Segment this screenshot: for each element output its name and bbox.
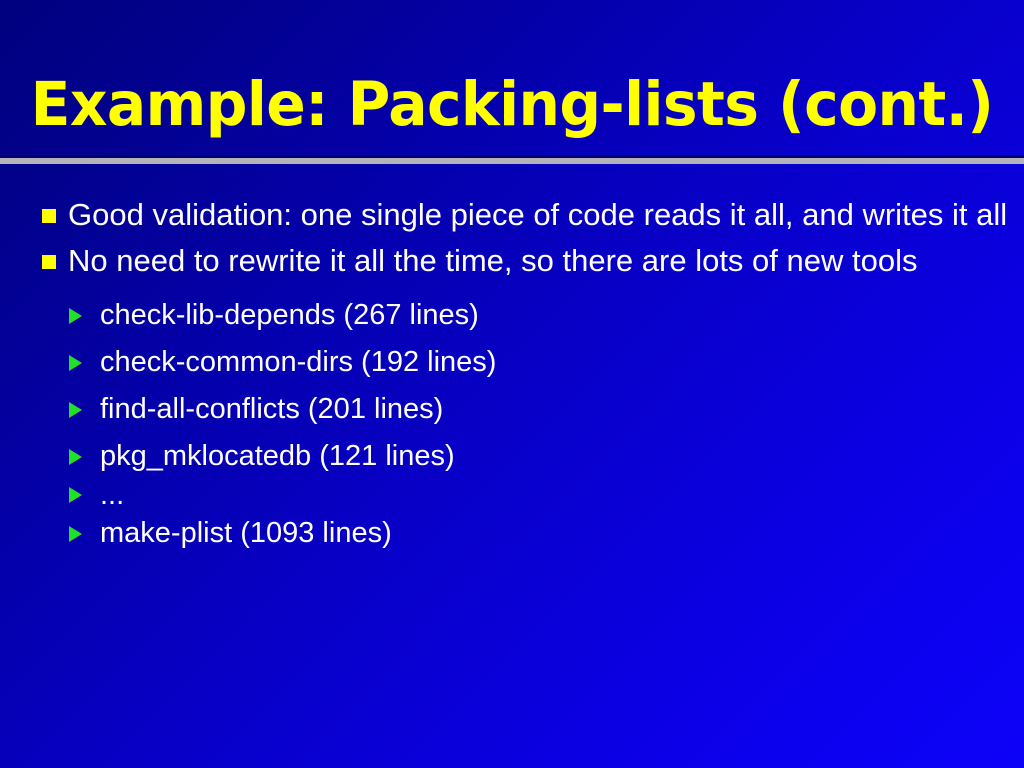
triangle-bullet-icon <box>69 402 82 418</box>
list-item: Good validation: one single piece of cod… <box>0 192 1024 238</box>
page-title: Example: Packing-lists (cont.) <box>23 68 1001 142</box>
bullet-text: Good validation: one single piece of cod… <box>68 197 1007 232</box>
sub-bullet-text: find-all-conflicts (201 lines) <box>100 386 443 433</box>
triangle-bullet-icon <box>69 487 82 503</box>
sub-bullet-text: check-lib-depends (267 lines) <box>100 292 479 339</box>
sub-bullet-text: pkg_mklocatedb (121 lines) <box>100 433 455 480</box>
sub-bullet-text: ... <box>100 480 124 510</box>
sub-bullet-text: make-plist (1093 lines) <box>100 510 392 557</box>
triangle-bullet-icon <box>69 449 82 465</box>
square-bullet-icon <box>42 255 56 269</box>
list-item: ... <box>0 480 1024 510</box>
list-item: make-plist (1093 lines) <box>0 510 1024 557</box>
list-item: pkg_mklocatedb (121 lines) <box>0 433 1024 480</box>
list-item: check-common-dirs (192 lines) <box>0 339 1024 386</box>
presentation-slide: Example: Packing-lists (cont.) Good vali… <box>0 0 1024 768</box>
title-divider <box>0 155 1024 164</box>
list-item: find-all-conflicts (201 lines) <box>0 386 1024 433</box>
sub-bullet-list: check-lib-depends (267 lines) check-comm… <box>0 292 1024 557</box>
list-item: check-lib-depends (267 lines) <box>0 292 1024 339</box>
triangle-bullet-icon <box>69 308 82 324</box>
sub-bullet-text: check-common-dirs (192 lines) <box>100 339 496 386</box>
slide-body: Good validation: one single piece of cod… <box>0 192 1024 557</box>
bullet-text: No need to rewrite it all the time, so t… <box>68 243 917 278</box>
square-bullet-icon <box>42 209 56 223</box>
list-item: No need to rewrite it all the time, so t… <box>0 238 1024 284</box>
triangle-bullet-icon <box>69 355 82 371</box>
divider-highlight-line <box>0 158 1024 164</box>
title-area: Example: Packing-lists (cont.) <box>0 68 1024 150</box>
triangle-bullet-icon <box>69 526 82 542</box>
